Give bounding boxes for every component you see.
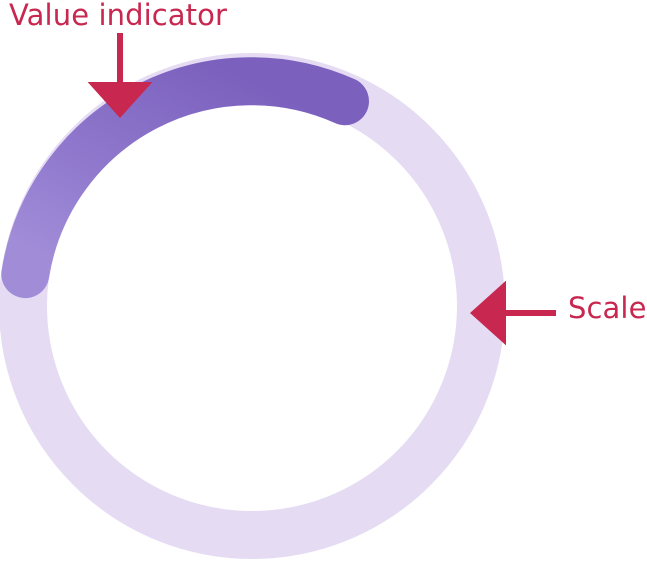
gauge-graphic (0, 0, 647, 570)
scale-label: Scale (568, 294, 647, 323)
value-indicator-label: Value indicator (9, 1, 227, 30)
value-indicator-arc (25, 81, 345, 274)
gauge-anatomy-diagram: Value indicator Scale (0, 0, 647, 570)
